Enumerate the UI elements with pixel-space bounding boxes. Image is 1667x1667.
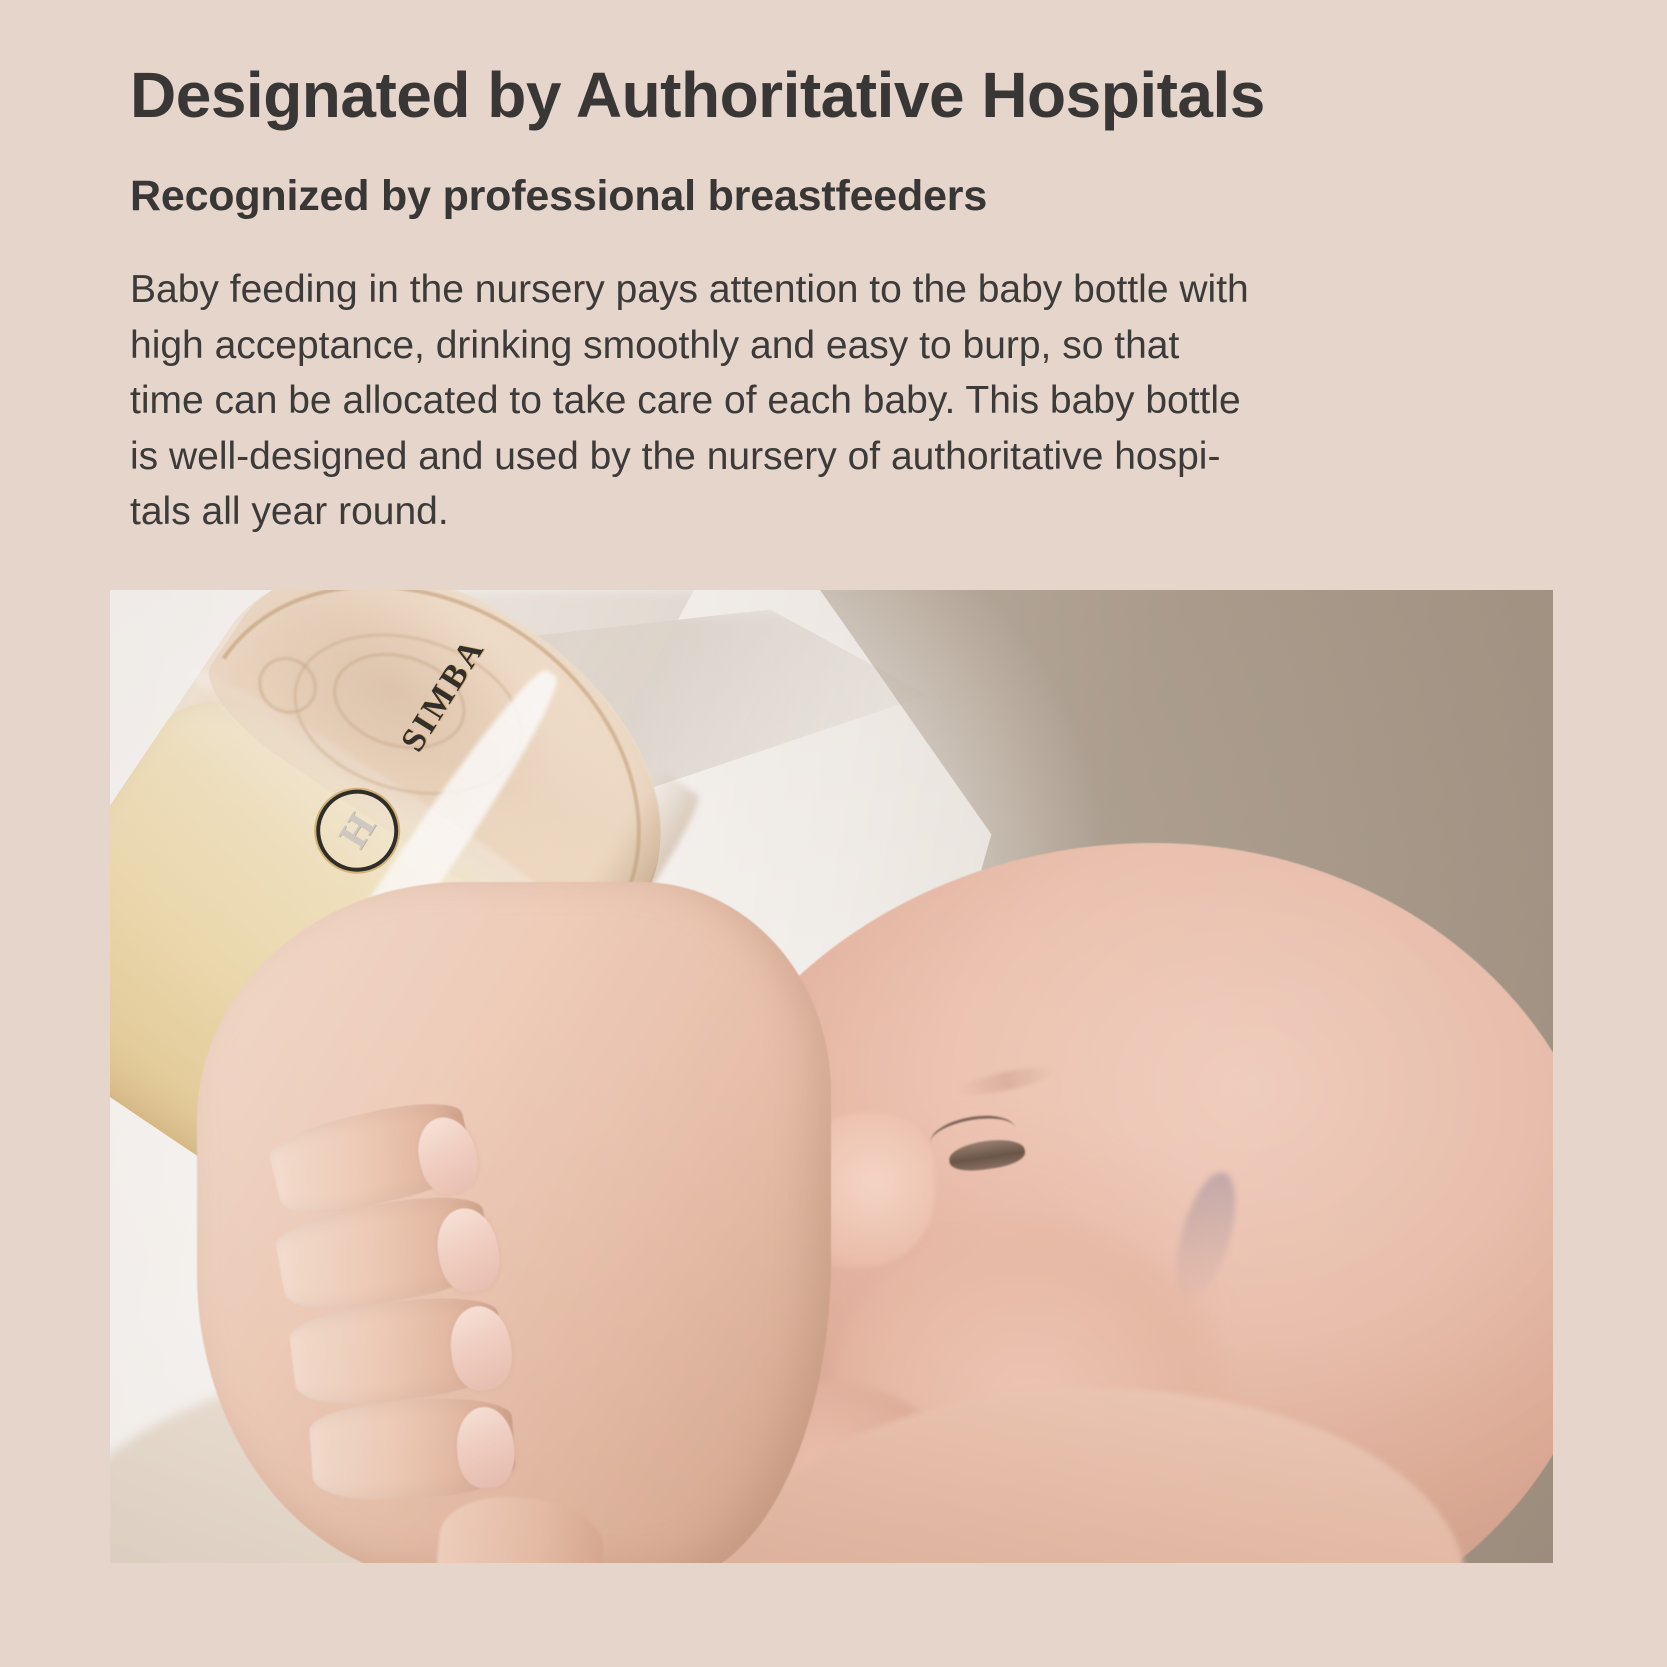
body-line-1: Baby feeding in the nursery pays attenti… xyxy=(130,262,1466,317)
baby-temple-vein xyxy=(1165,1166,1247,1305)
text-block: Designated by Authoritative Hospitals Re… xyxy=(130,0,1550,539)
body-line-4: is well-designed and used by the nursery… xyxy=(130,429,1466,484)
body-line-5: tals all year round. xyxy=(130,484,1466,539)
body-line-3: time can be allocated to take care of ea… xyxy=(130,373,1466,428)
product-detail-page: Designated by Authoritative Hospitals Re… xyxy=(0,0,1667,1667)
page-subtitle: Recognized by professional breastfeeders xyxy=(130,129,1550,220)
brand-emblem-letter: H xyxy=(333,807,383,855)
thumb xyxy=(432,1490,608,1563)
body-paragraph: Baby feeding in the nursery pays attenti… xyxy=(130,220,1466,539)
body-line-2: high acceptance, drinking smoothly and e… xyxy=(130,318,1466,373)
page-title: Designated by Authoritative Hospitals xyxy=(130,0,1550,129)
photo-canvas: SIMBA H xyxy=(110,590,1553,1563)
product-photo: SIMBA H xyxy=(110,590,1553,1563)
caregiver-hand xyxy=(197,882,832,1563)
